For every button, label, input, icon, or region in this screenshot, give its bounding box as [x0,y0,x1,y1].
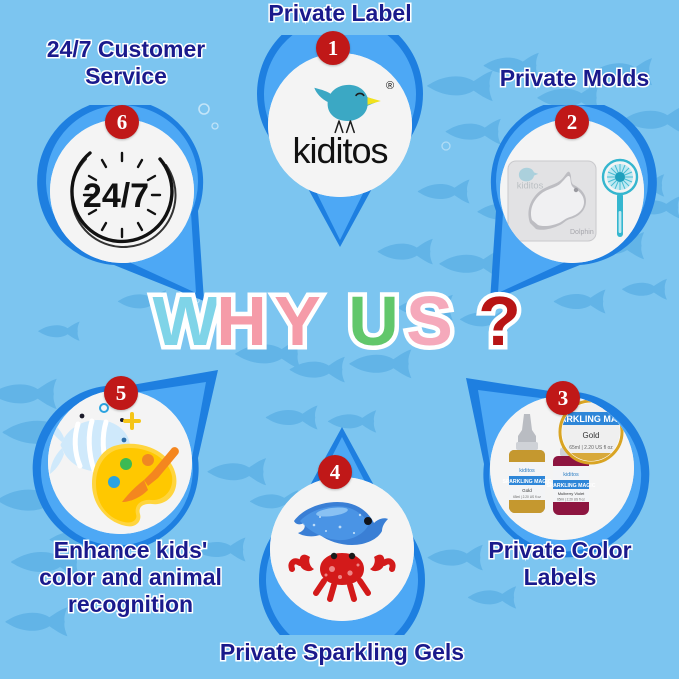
svg-text:kiditos: kiditos [519,468,535,474]
svg-text:65ml | 2.20 US fl oz: 65ml | 2.20 US fl oz [569,445,613,451]
clock-text: 24/7 [83,177,149,215]
headline-letter: U [348,283,399,360]
svg-text:Gold: Gold [583,431,600,440]
feature-icon-5 [48,390,192,534]
blue-dolphin-gel [294,502,388,545]
feature-badge-2: 2 [555,105,589,139]
red-crab-gel [291,553,392,599]
feature-icon-3: kiditos SPARKLING MAGIC Gold 65ml | 2.20… [490,396,634,540]
feature-badge-5: 5 [104,376,138,410]
headline-why-us: WHYUS? [0,283,679,363]
feature-icon-4 [270,477,414,621]
mold-label-text: Dolphin [570,229,594,236]
palette-dot-orange [142,454,154,466]
headline-why-us-svg: WHYUS? [0,283,679,369]
trademark-symbol: ® [386,80,394,92]
headline-letter: ? [478,283,521,360]
infographic-canvas: ® kiditos 1 Private Label Dolphin kidi [0,0,679,679]
palette-icon [92,444,179,527]
svg-text:Gold: Gold [522,488,532,493]
clock-icon: 24/7 [72,153,176,247]
brand-wordmark: kiditos [292,130,387,171]
feature-pin-6[interactable]: 24/7 6 [32,105,218,305]
svg-text:SPARKLING MAGIC: SPARKLING MAGIC [503,479,552,485]
feature-icon-6: 24/7 [50,119,194,263]
feature-caption-5: Enhance kids' color and animal recogniti… [8,537,253,618]
svg-text:SPARKLING MAGIC: SPARKLING MAGIC [547,483,596,489]
feature-caption-6: 24/7 Customer Service [6,36,246,90]
feature-badge-4: 4 [318,455,352,489]
feature-caption-1: Private Label [230,0,450,27]
svg-text:Mulberry Violet: Mulberry Violet [558,491,585,496]
feature-pin-4[interactable]: 4 [252,425,432,635]
headline-letter: S [406,283,453,360]
svg-text:65ml | 2.20 US fl oz: 65ml | 2.20 US fl oz [557,498,585,502]
headline-letter: H [216,283,267,360]
feature-icon-1: ® kiditos [268,53,412,197]
svg-text:kiditos: kiditos [563,472,579,478]
feature-caption-3: Private Color Labels [460,537,660,591]
feature-caption-2: Private Molds [470,65,679,92]
feature-badge-6: 6 [105,105,139,139]
feature-badge-1: 1 [316,31,350,65]
headline-letter: W [152,283,218,360]
feature-pin-5[interactable]: 5 [26,362,226,562]
feature-caption-4: Private Sparkling Gels [182,639,502,666]
svg-text:kiditos: kiditos [517,181,544,191]
feature-pin-1[interactable]: ® kiditos 1 [250,35,430,250]
feature-badge-3: 3 [546,381,580,415]
feature-pin-2[interactable]: Dolphin kiditos [476,105,662,305]
palette-dot-blue [108,476,120,488]
headline-letter: Y [274,283,321,360]
feature-icon-2: Dolphin kiditos [500,119,644,263]
svg-text:65ml | 2.20 US fl oz: 65ml | 2.20 US fl oz [513,495,541,499]
palette-dot-green [120,458,132,470]
